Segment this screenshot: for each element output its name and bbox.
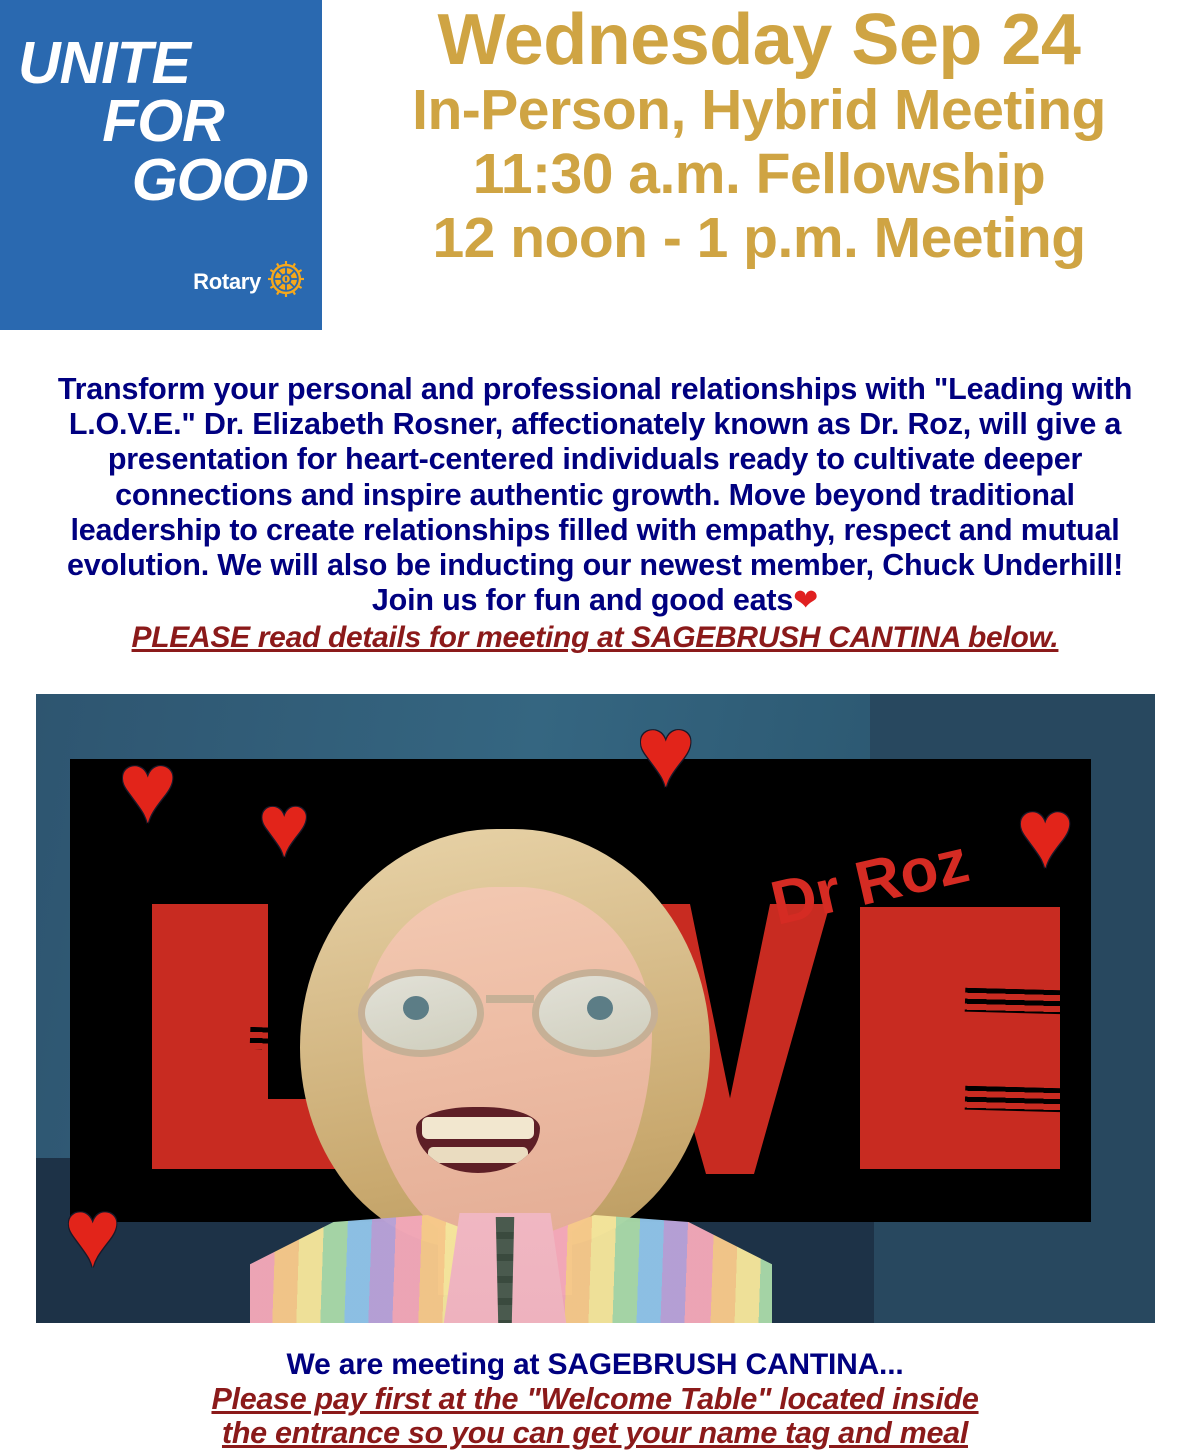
rotary-unite-for-good-logo: UNITE FOR GOOD Rotary	[0, 0, 322, 330]
lens-right	[532, 969, 658, 1057]
rotary-brand-mark: Rotary	[193, 261, 304, 302]
rotary-wheel-icon	[268, 261, 304, 302]
tagline-line-1: UNITE	[18, 34, 308, 92]
venue-line: We are meeting at SAGEBRUSH CANTINA...	[36, 1348, 1154, 1382]
backdrop-letter-e	[860, 907, 1060, 1169]
lower-teeth	[428, 1147, 528, 1163]
backdrop-letter-e-slots-upper	[965, 988, 1066, 1015]
header-fellowship-time-line: 11:30 a.m. Fellowship	[330, 146, 1188, 203]
meeting-header-text: Wednesday Sep 24 In-Person, Hybrid Meeti…	[330, 4, 1188, 267]
rotary-wordmark: Rotary	[193, 269, 261, 295]
poster-header: UNITE FOR GOOD Rotary	[0, 0, 1190, 332]
heart-icon-top-right: ♥	[1016, 784, 1074, 882]
inline-heart-icon: ❤	[793, 584, 818, 617]
rotary-tagline: UNITE FOR GOOD	[18, 34, 308, 209]
love-backdrop-panel: Dr Roz	[70, 759, 1091, 1222]
header-date-line: Wednesday Sep 24	[330, 4, 1188, 76]
header-format-line: In-Person, Hybrid Meeting	[330, 82, 1188, 139]
name-tag-instruction-line: the entrance so you can get your name ta…	[36, 1416, 1154, 1450]
upper-teeth	[422, 1117, 534, 1139]
speaker-photo: Dr Roz ♥ ♥ ♥ ♥ ♥	[36, 694, 1155, 1323]
face	[362, 887, 652, 1247]
heart-icon-upper-mid: ♥	[258, 782, 310, 870]
glasses-bridge	[486, 995, 534, 1003]
eyeglasses	[358, 965, 658, 1061]
eye-right	[587, 996, 613, 1020]
heart-icon-bottom-left: ♥	[64, 1186, 121, 1282]
please-read-details-line: PLEASE read details for meeting at SAGEB…	[36, 621, 1154, 656]
speaker-portrait	[266, 815, 756, 1323]
heart-icon-top-center: ♥	[636, 702, 695, 802]
program-description-body: Transform your personal and professional…	[58, 372, 1132, 617]
backdrop-letter-e-slots-lower	[965, 1086, 1066, 1113]
payment-instruction-line: Please pay first at the "Welcome Table" …	[36, 1382, 1154, 1416]
tagline-line-2: FOR	[18, 92, 308, 150]
tagline-line-3: GOOD	[18, 151, 308, 209]
eye-left	[403, 996, 429, 1020]
program-description: Transform your personal and professional…	[36, 372, 1154, 656]
venue-details: We are meeting at SAGEBRUSH CANTINA... P…	[36, 1348, 1154, 1450]
header-meeting-time-line: 12 noon - 1 p.m. Meeting	[330, 210, 1188, 267]
lens-left	[358, 969, 484, 1057]
heart-icon-top-left: ♥	[118, 738, 177, 838]
